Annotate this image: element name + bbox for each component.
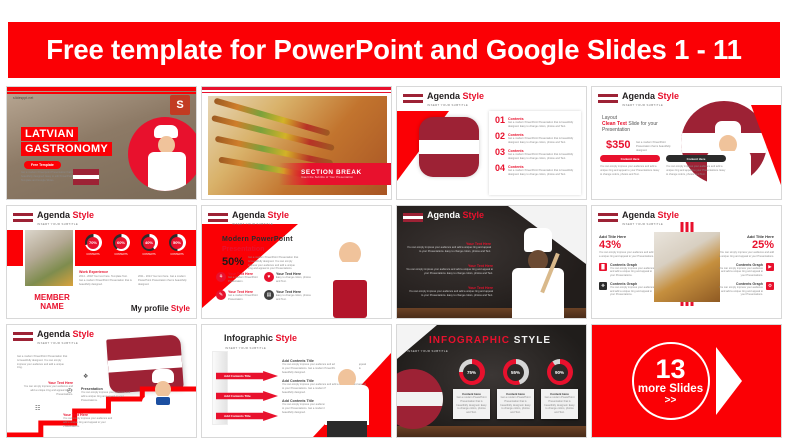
layout-text: Layout Clean Text Slide for your Present… (602, 115, 678, 133)
donut-value: 75% (467, 370, 476, 375)
card-text: Get a modern PowerPoint Presentation tha… (456, 396, 487, 415)
stat-entry[interactable]: ⚙ Contents Graph You can simply impress … (718, 282, 774, 297)
donut-caption: CONTENTS (113, 253, 130, 256)
member-line-2: NAME (17, 303, 87, 312)
agenda-title-main: Agenda (37, 329, 70, 339)
entry-text: You can simply impress your audience and… (718, 286, 763, 297)
sandwich-photo (654, 232, 720, 302)
member-name: MEMBER NAME (17, 294, 87, 312)
row-text: You can simply impress your audience and… (407, 246, 491, 254)
item-text: Get a modern PowerPoint Presentation tha… (508, 169, 576, 177)
slide-thumbnail-11[interactable]: INFOGRAPHIC STYLE INSERT YOUR SUBTITLE 7… (396, 324, 587, 438)
agenda-header: Agenda Style INSERT YOUR SUBTITLE (208, 211, 289, 226)
column-text: You can simply impress your audience and… (599, 251, 655, 259)
row-text: You can simply impress your audience and… (407, 290, 493, 298)
slide-thumbnail-3[interactable]: Agenda Style INSERT YOUR SUBTITLE 01 Con… (396, 86, 587, 200)
stat-entry[interactable]: ❖ Contents Graph You can simply impress … (599, 282, 655, 297)
title-line-1: LATVIAN (21, 127, 78, 141)
slide-body-text: Get a modern Powerpoint Presentation tha… (21, 171, 81, 182)
donut-stat: 40% CONTENTS (141, 234, 158, 256)
book-icon: ▤ (264, 290, 274, 300)
gear-icon: ⚙ (766, 282, 774, 290)
play-icon: ▶ (766, 263, 774, 271)
stats-column-right: Add Title Here 25% You can simply impres… (718, 234, 774, 297)
more-slides-cta[interactable]: 13 more Slides >> (591, 324, 782, 438)
chef-hat-icon (524, 228, 552, 252)
agenda-title: Agenda Style (622, 211, 679, 220)
agenda-title-main: Agenda (622, 91, 655, 101)
donut-chart: 75% (459, 359, 485, 385)
feature-text: Get a modern PowerPoint Presentation. (228, 276, 264, 284)
template-preview-page: Free template for PowerPoint and Google … (0, 0, 788, 447)
slide-title-accent: INFOGRAPHIC (429, 335, 510, 346)
chef-photo (305, 222, 389, 318)
top-red-bar-thin (202, 92, 391, 94)
list-item[interactable]: 02 Contents Get a modern PowerPoint Pres… (495, 132, 576, 145)
microphone-icon: ⚘ (216, 272, 226, 282)
content-here-button-left[interactable]: Content Here (600, 155, 660, 162)
arrow-label: Add Contents Title (224, 374, 251, 378)
top-red-bar (7, 87, 196, 91)
powerpoint-icon: S (170, 95, 190, 115)
more-slides-circle[interactable]: 13 more Slides >> (632, 342, 710, 420)
slide-title: Infographic Style (224, 333, 297, 343)
text-row: Your Text Here You can simply impress yo… (401, 264, 493, 276)
title-line-2: GASTRONOMY (21, 142, 112, 156)
entry-text: You can simply impress your audience and… (610, 286, 655, 297)
puzzle-icon: ❖ (83, 373, 88, 380)
latvia-flag-icon (73, 169, 99, 185)
slide-thumbnail-6[interactable]: Agenda Style INSERT YOUR SUBTITLE Modern… (201, 205, 392, 319)
more-slides-label: more Slides (638, 383, 703, 397)
stats-column-left: Add Title Here 43% You can simply impres… (599, 234, 655, 297)
text-block: Your Text Here You can simply impress yo… (63, 413, 115, 428)
item-text: Get a modern PowerPoint Presentation tha… (508, 121, 576, 129)
donut-value: 70% (89, 240, 97, 245)
latvia-flag-badge (419, 117, 479, 177)
agenda-title-main: Agenda (427, 210, 460, 220)
donut-chart: 90% (547, 359, 573, 385)
chef-skirt (327, 421, 367, 437)
slide-thumbnail-4[interactable]: Agenda Style INSERT YOUR SUBTITLE Layout… (591, 86, 782, 200)
latvia-flag-icon (13, 332, 33, 341)
card-panel: Content Here Get a modern PowerPoint Pre… (541, 389, 578, 419)
donut-value: 50% (173, 240, 181, 245)
food-photo (23, 228, 75, 288)
agenda-subtitle: INSERT YOUR SUBTITLE (427, 103, 484, 107)
donut-caption: CONTENTS (169, 253, 186, 256)
latvia-flag-icon (403, 94, 423, 103)
agenda-title-accent: Style (463, 91, 485, 101)
agenda-title: Agenda Style (37, 211, 94, 220)
column-text-right: You can simply impress your audience and… (666, 165, 726, 176)
donut-value: 55% (511, 370, 520, 375)
latvia-flag-icon (598, 213, 618, 222)
chef-body (148, 152, 186, 191)
donut-card: 75% Content Here Get a modern PowerPoint… (453, 359, 490, 419)
agenda-subtitle: INSERT YOUR SUBTITLE (37, 341, 94, 345)
feature-text: Get a modern PowerPoint Presentation. (228, 294, 264, 302)
feature-item[interactable]: ✎ Your Text Here Get a modern PowerPoint… (216, 290, 264, 302)
latvia-flag-icon (403, 213, 423, 222)
slide-title-line-2: Presentation (222, 246, 264, 253)
agenda-subtitle: INSERT YOUR SUBTITLE (37, 222, 94, 226)
row-text: You can simply impress your audience and… (401, 268, 493, 276)
donut-cards: 75% Content Here Get a modern PowerPoint… (453, 359, 578, 419)
top-red-bar-thin (7, 92, 196, 94)
more-slides-count: 13 (655, 356, 685, 383)
slide-title-accent: Style (276, 333, 298, 343)
chef-photo (317, 353, 377, 437)
clock-icon: ◴ (67, 387, 72, 394)
intro-text: Get a modern PowerPoint Presentation tha… (17, 355, 69, 370)
donut-stat: 70% CONTENTS (85, 234, 102, 256)
work-experience-block: Work Experience 2014 - 2018 Your text he… (79, 270, 191, 286)
slides-grid: slidesppt.net S LATVIAN GASTRONOMY Free … (6, 86, 782, 438)
item-number: 02 (495, 132, 505, 145)
agenda-title-accent: Style (463, 210, 485, 220)
donut-card: 90% Content Here Get a modern PowerPoint… (541, 359, 578, 419)
card-text: Get a modern PowerPoint Presentation tha… (500, 396, 531, 415)
agenda-title: Agenda Style (427, 92, 484, 101)
agenda-title-main: Agenda (37, 210, 70, 220)
slide-title: INFOGRAPHIC STYLE (429, 335, 551, 346)
text-block: Presentation You can simply impress your… (81, 387, 133, 402)
slide-thumbnail-7[interactable]: Agenda Style Your Text Here You can simp… (396, 205, 587, 319)
slide-thumbnail-2[interactable]: SECTION BREAK Insert the Subtitle of You… (201, 86, 392, 200)
slide-subtitle: INSERT YOUR SUBTITLE (407, 349, 448, 353)
agenda-title-main: Agenda (232, 210, 265, 220)
agenda-title-accent: Style (658, 210, 680, 220)
top-red-bar (202, 87, 391, 90)
profile-footer: My profile Style (131, 304, 190, 313)
chef-hat-icon (335, 224, 365, 244)
column-text-left: You can simply impress your audience and… (600, 165, 660, 176)
puzzle-icon: ❖ (599, 282, 607, 290)
donut-stat: 60% CONTENTS (113, 234, 130, 256)
item-number: 04 (495, 164, 505, 177)
slide-subtitle: INSERT YOUR SUBTITLE (225, 346, 266, 350)
slide-thumbnail-10[interactable]: Infographic Style INSERT YOUR SUBTITLE A… (201, 324, 392, 438)
page-title: Free template for PowerPoint and Google … (46, 34, 741, 66)
brand-label: slidesppt.net (13, 96, 34, 100)
stat-entry[interactable]: █ Contents Graph You can simply impress … (599, 263, 655, 278)
list-item[interactable]: 04 Contents Get a modern PowerPoint Pres… (495, 164, 576, 177)
donut-chart: 40% (141, 234, 158, 251)
work-title: Work Experience (79, 270, 191, 274)
agenda-title-main: Agenda (427, 91, 460, 101)
donut-chart: 60% (113, 234, 130, 251)
block-text: You can simply impress your audience and… (81, 391, 133, 402)
agenda-header: Agenda Style INSERT YOUR SUBTITLE (598, 211, 679, 226)
agenda-header: Agenda Style INSERT YOUR SUBTITLE (13, 211, 94, 226)
column-value: 25% (718, 239, 774, 251)
latvia-flag-icon (13, 213, 33, 222)
contents-list: 01 Contents Get a modern PowerPoint Pres… (489, 111, 581, 195)
entry-text: You can simply impress your audience and… (610, 267, 655, 278)
slide-thumbnail-1[interactable]: slidesppt.net S LATVIAN GASTRONOMY Free … (6, 86, 197, 200)
item-number: 01 (495, 116, 505, 129)
entry-text: You can simply impress your audience and… (718, 267, 763, 278)
percent-note: Get a modern PowerPoint Presentation tha… (248, 256, 300, 271)
slide-title-line-1: Modern PowerPoint (222, 236, 293, 243)
agenda-header: Agenda Style INSERT YOUR SUBTITLE (13, 330, 94, 345)
section-break-label: SECTION BREAK Insert the Subtitle of You… (279, 163, 391, 185)
percent-value: 50% (222, 256, 244, 268)
agenda-header: Agenda Style INSERT YOUR SUBTITLE (598, 92, 679, 107)
agenda-header: Agenda Style (403, 211, 484, 222)
donut-value: 90% (555, 370, 564, 375)
agenda-title-accent: Style (658, 91, 680, 101)
chef-photo (136, 369, 192, 437)
agenda-subtitle: INSERT YOUR SUBTITLE (622, 222, 679, 226)
slide-title-rest: STYLE (514, 335, 551, 346)
more-slides-chevrons: >> (665, 396, 677, 406)
free-template-badge[interactable]: Free Template (24, 161, 61, 169)
item-number: 03 (495, 148, 505, 161)
slide-thumbnail-9[interactable]: Agenda Style INSERT YOUR SUBTITLE Get a … (6, 324, 197, 438)
card-panel: Content Here Get a modern PowerPoint Pre… (453, 389, 490, 419)
donut-value: 60% (117, 240, 125, 245)
agenda-title-main: Agenda (622, 210, 655, 220)
stat-entry[interactable]: ▶ Contents Graph You can simply impress … (718, 263, 774, 278)
skill-donuts: 70% CONTENTS 60% CONTENTS 40% CONTENTS (79, 234, 191, 256)
agenda-title: Agenda Style (427, 211, 484, 220)
agenda-title-accent: Style (73, 210, 95, 220)
agenda-title: Agenda Style (232, 211, 289, 220)
agenda-title-accent: Style (73, 329, 95, 339)
chef-neckerchief (156, 397, 170, 405)
donut-card: 55% Content Here Get a modern PowerPoint… (497, 359, 534, 419)
donut-caption: CONTENTS (85, 253, 102, 256)
block-text: You can simply impress your audience and… (63, 417, 115, 428)
agenda-subtitle: INSERT YOUR SUBTITLE (622, 103, 679, 107)
heart-icon: ♥ (264, 272, 274, 282)
arrow-label: Add Contents Title (224, 394, 251, 398)
chef-photo (500, 228, 578, 318)
slide-thumbnail-8[interactable]: Agenda Style INSERT YOUR SUBTITLE Add Ti… (591, 205, 782, 319)
arrow-label: Add Contents Title (224, 414, 251, 418)
work-left-text: 2014 - 2018 Your text here. Template Tex… (79, 275, 132, 286)
donut-chart: 50% (169, 234, 186, 251)
slide-title-main: Infographic (224, 333, 273, 343)
agenda-subtitle: INSERT YOUR SUBTITLE (232, 222, 289, 226)
card-panel: Content Here Get a modern PowerPoint Pre… (497, 389, 534, 419)
card-text: Get a modern PowerPoint Presentation tha… (544, 396, 575, 415)
agenda-title: Agenda Style (622, 92, 679, 101)
item-text: Get a modern PowerPoint Presentation tha… (508, 153, 576, 161)
feature-item[interactable]: ⚘ Your Text Here Get a modern PowerPoint… (216, 272, 264, 284)
agenda-title: Agenda Style (37, 330, 94, 339)
calendar-icon: ☷ (35, 405, 40, 412)
column-value: 43% (599, 239, 655, 251)
profile-footer-accent: Style (171, 304, 190, 313)
work-right-text: 2011 - 2014 Your text here. Get a modern… (138, 275, 191, 286)
latvia-flag-icon (598, 94, 618, 103)
profile-footer-text: My profile (131, 304, 169, 313)
block-text: You can simply impress your audience and… (21, 385, 73, 396)
list-item[interactable]: 03 Contents Get a modern PowerPoint Pres… (495, 148, 576, 161)
column-text: You can simply impress your audience and… (718, 251, 774, 259)
chef-circle (128, 117, 197, 191)
item-text: Get a modern PowerPoint Presentation tha… (508, 137, 576, 145)
donut-chart: 70% (85, 234, 102, 251)
header-banner: Free template for PowerPoint and Google … (8, 22, 780, 78)
donut-stat: 50% CONTENTS (169, 234, 186, 256)
latvia-flag-icon (208, 213, 228, 222)
text-block: Your Text Here You can simply impress yo… (21, 381, 73, 396)
text-row: Your Text Here You can simply impress yo… (407, 242, 491, 254)
chart-icon: █ (599, 263, 607, 271)
content-here-button-right[interactable]: Content Here (666, 155, 726, 162)
donut-caption: CONTENTS (141, 253, 158, 256)
donut-value: 40% (145, 240, 153, 245)
agenda-header: Agenda Style INSERT YOUR SUBTITLE (403, 92, 484, 107)
chef-body (325, 385, 369, 425)
chef-body (512, 268, 564, 318)
slide-thumbnail-5[interactable]: Agenda Style INSERT YOUR SUBTITLE 70% CO… (6, 205, 197, 319)
pencil-icon: ✎ (216, 290, 226, 300)
chef-apron (333, 280, 367, 318)
agenda-title-accent: Style (268, 210, 290, 220)
section-break-title: SECTION BREAK (301, 169, 391, 176)
wood-ledge (397, 426, 586, 437)
text-row: Your Text Here You can simply impress yo… (407, 286, 493, 298)
chevron-right-icon[interactable] (716, 347, 742, 415)
price-value: $350 (606, 139, 630, 151)
price-note: Get a modern PowerPoint Presentation tha… (636, 141, 678, 152)
section-break-subtitle: Insert the Subtitle of Your Presentation (301, 176, 391, 179)
list-item[interactable]: 01 Contents Get a modern PowerPoint Pres… (495, 116, 576, 129)
donut-chart: 55% (503, 359, 529, 385)
